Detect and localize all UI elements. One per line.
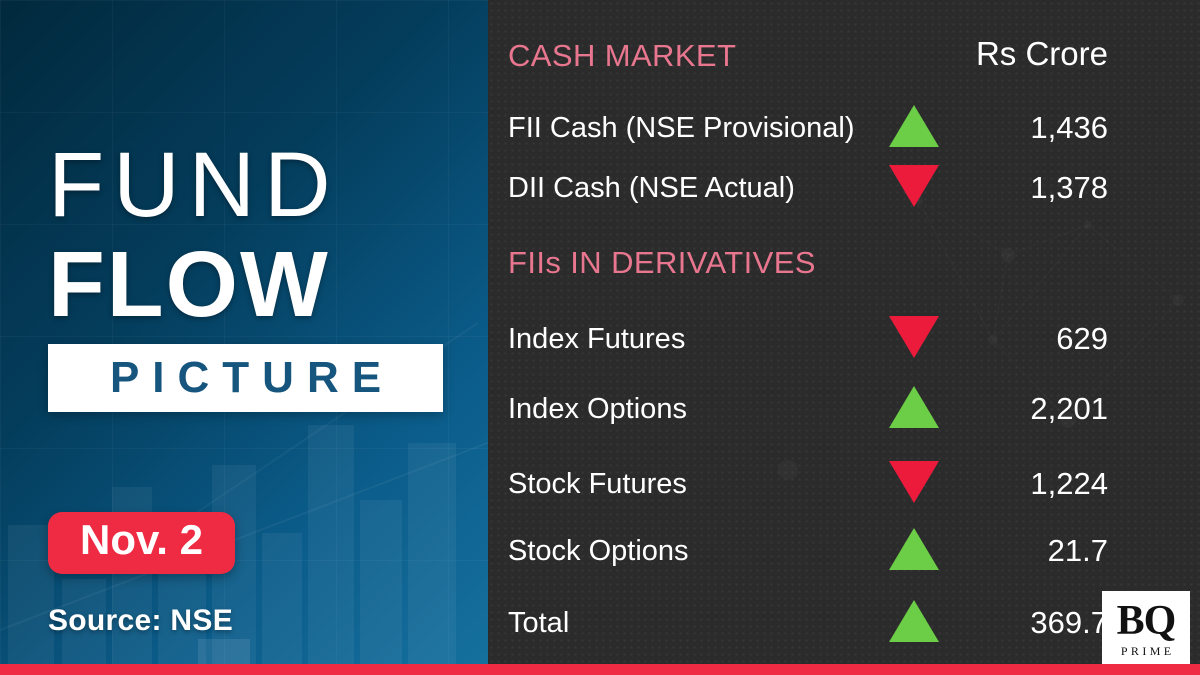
section-header-fiis-in-derivatives: FIIs IN DERIVATIVES [508,245,816,281]
table-row: Index Options 2,201 [488,385,1200,433]
logo-subtext: PRIME [1117,644,1174,659]
table-row: Index Futures 629 [488,315,1200,363]
date-badge: Nov. 2 [48,512,235,574]
brand-title-flow: FLOW [48,237,468,332]
row-value: 629 [888,321,1108,357]
row-label: Total [508,607,569,640]
row-value: 369.7 [888,605,1108,641]
brand-title-block: FUND FLOW PICTURE [48,142,468,412]
row-label: FII Cash (NSE Provisional) [508,112,855,145]
brand-title-picture-band: PICTURE [48,344,443,412]
row-label: Index Options [508,393,687,426]
row-value: 1,436 [888,110,1108,146]
unit-header: Rs Crore [868,35,1108,73]
brand-panel: FUND FLOW PICTURE Nov. 2 Source: NSE [0,0,488,675]
logo-wordmark: BQ [1117,602,1176,641]
table-row: FII Cash (NSE Provisional) 1,436 [488,104,1200,152]
row-label: Stock Futures [508,468,687,501]
source-label: Source: NSE [48,604,233,638]
table-row: DII Cash (NSE Actual) 1,378 [488,164,1200,212]
row-label: Index Futures [508,323,685,356]
row-value: 1,378 [888,170,1108,206]
data-panel: CASH MARKET Rs Crore FII Cash (NSE Provi… [488,0,1200,675]
table-row: Stock Futures 1,224 [488,460,1200,508]
bottom-accent-bar [0,664,1200,675]
row-value: 1,224 [888,466,1108,502]
row-value: 2,201 [888,391,1108,427]
brand-title-picture: PICTURE [97,353,394,403]
row-label: DII Cash (NSE Actual) [508,172,795,205]
bq-prime-logo: BQ PRIME [1102,591,1190,668]
infographic-card: FUND FLOW PICTURE Nov. 2 Source: NSE [0,0,1200,675]
row-value: 21.7 [888,533,1108,569]
table-row: Stock Options 21.7 [488,527,1200,575]
fund-flow-table: CASH MARKET Rs Crore FII Cash (NSE Provi… [488,0,1200,675]
section-header-cash-market: CASH MARKET [508,38,736,74]
brand-title-fund: FUND [48,142,468,229]
table-row: Total 369.7 [488,599,1200,647]
row-label: Stock Options [508,535,689,568]
